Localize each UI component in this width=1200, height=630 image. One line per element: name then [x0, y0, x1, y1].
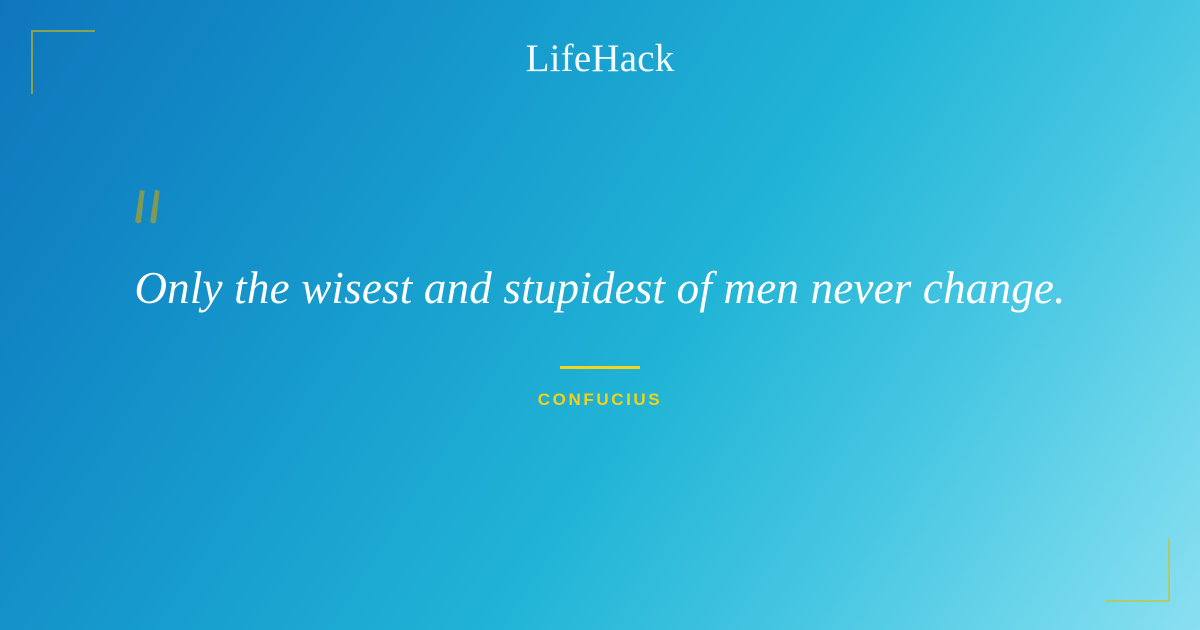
lifehack-logo: LifeHack — [0, 39, 1200, 80]
quote-card: LifeHack Only the wisest and stupidest o… — [0, 0, 1200, 630]
corner-bracket-bottom-right-icon — [1106, 538, 1170, 602]
quote-divider — [560, 366, 640, 369]
quote-author: CONFUCIUS — [0, 390, 1200, 410]
quote-text: Only the wisest and stupidest of men nev… — [100, 262, 1100, 315]
quotation-mark-icon — [128, 186, 188, 246]
divider-container — [0, 359, 1200, 377]
